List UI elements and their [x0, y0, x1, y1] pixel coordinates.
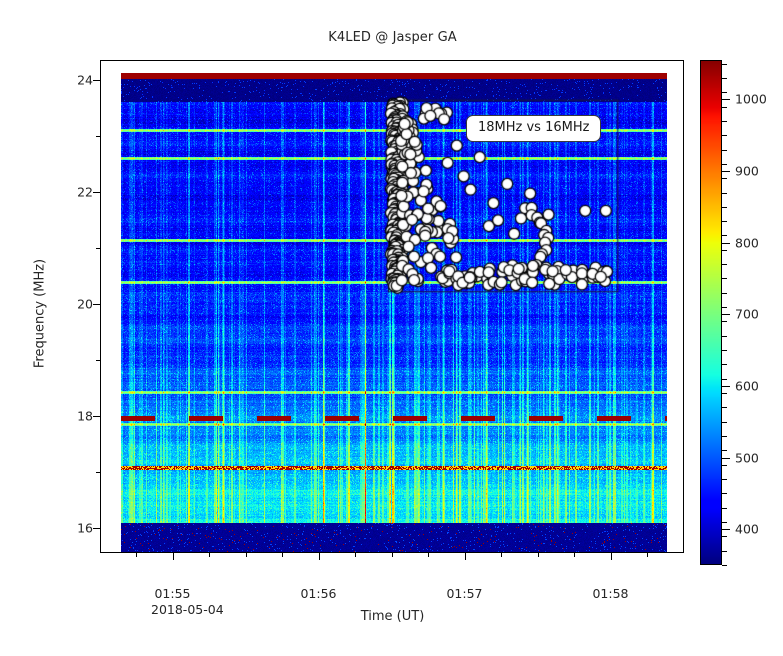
colorbar-tick-minor	[722, 450, 727, 451]
x-tick-minor	[246, 553, 247, 557]
x-tick-label: 01:56	[274, 586, 364, 601]
x-tick-minor	[136, 553, 137, 557]
colorbar-tick-label: 800	[735, 235, 759, 250]
x-tick-major	[611, 553, 612, 560]
x-tick-minor	[282, 553, 283, 557]
colorbar-tick-minor	[722, 121, 727, 122]
x-tick-minor	[392, 553, 393, 557]
colorbar-tick-minor	[722, 393, 727, 394]
colorbar-tick-minor	[722, 278, 727, 279]
y-tick-major	[93, 304, 100, 305]
x-tick-label: 01:58	[566, 586, 656, 601]
colorbar-tick-minor	[722, 250, 727, 251]
y-tick-minor	[96, 472, 100, 473]
colorbar-tick-label: 400	[735, 522, 759, 537]
y-tick-label: 18	[33, 408, 93, 423]
x-tick-minor	[574, 553, 575, 557]
annotation-legend-box: 18MHz vs 16MHz	[466, 115, 601, 142]
y-tick-minor	[96, 360, 100, 361]
colorbar-tick-label: 500	[735, 450, 759, 465]
y-tick-major	[93, 80, 100, 81]
x-tick-minor	[428, 553, 429, 557]
colorbar-tick-minor	[722, 64, 727, 65]
colorbar-tick-label: 900	[735, 164, 759, 179]
colorbar-tick-label: 700	[735, 307, 759, 322]
colorbar-tick-minor	[722, 207, 727, 208]
x-tick-label: 01:57	[420, 586, 510, 601]
colorbar-tick-major	[722, 386, 730, 387]
x-tick-minor	[501, 553, 502, 557]
colorbar-tick-minor	[722, 379, 727, 380]
colorbar-tick-minor	[722, 508, 727, 509]
y-tick-label: 22	[33, 184, 93, 199]
y-tick-major	[93, 528, 100, 529]
colorbar-tick-minor	[722, 336, 727, 337]
colorbar-tick-major	[722, 458, 730, 459]
colorbar-tick-minor	[722, 264, 727, 265]
colorbar-tick-minor	[722, 150, 727, 151]
colorbar-tick-minor	[722, 493, 727, 494]
colorbar-tick-major	[722, 99, 730, 100]
colorbar-tick-label: 600	[735, 378, 759, 393]
annotation-label: 18MHz vs 16MHz	[478, 120, 589, 135]
colorbar-tick-minor	[722, 536, 727, 537]
x-tick-major	[319, 553, 320, 560]
colorbar-tick-minor	[722, 522, 727, 523]
colorbar-tick-label: 1000	[735, 92, 767, 107]
colorbar-gradient	[701, 61, 721, 564]
y-tick-label: 20	[33, 296, 93, 311]
colorbar-tick-minor	[722, 235, 727, 236]
x-axis-label: Time (UT)	[300, 609, 485, 624]
figure-canvas: K4LED @ Jasper GA 18MHz vs 16MHz Frequen…	[0, 0, 783, 656]
x-tick-minor	[209, 553, 210, 557]
x-tick-minor	[647, 553, 648, 557]
x-tick-major	[173, 553, 174, 560]
colorbar-tick-minor	[722, 307, 727, 308]
y-tick-minor	[96, 248, 100, 249]
colorbar-tick-minor	[722, 350, 727, 351]
colorbar-tick-minor	[722, 465, 727, 466]
y-tick-major	[93, 416, 100, 417]
colorbar-tick-minor	[722, 92, 727, 93]
colorbar[interactable]	[700, 60, 722, 565]
y-tick-minor	[96, 136, 100, 137]
colorbar-tick-minor	[722, 364, 727, 365]
colorbar-tick-minor	[722, 479, 727, 480]
y-tick-major	[93, 192, 100, 193]
colorbar-tick-minor	[722, 551, 727, 552]
colorbar-tick-minor	[722, 436, 727, 437]
colorbar-tick-minor	[722, 193, 727, 194]
colorbar-tick-minor	[722, 178, 727, 179]
colorbar-tick-minor	[722, 164, 727, 165]
colorbar-tick-major	[722, 243, 730, 244]
y-tick-label: 16	[33, 520, 93, 535]
colorbar-tick-major	[722, 171, 730, 172]
x-tick-major	[465, 553, 466, 560]
colorbar-tick-minor	[722, 565, 727, 566]
colorbar-tick-minor	[722, 293, 727, 294]
x-tick-label: 01:55	[128, 586, 218, 601]
page-title: K4LED @ Jasper GA	[100, 30, 685, 45]
colorbar-tick-minor	[722, 422, 727, 423]
colorbar-tick-major	[722, 314, 730, 315]
colorbar-tick-minor	[722, 221, 727, 222]
x-axis-date-label: 2018-05-04	[151, 602, 224, 617]
colorbar-tick-minor	[722, 78, 727, 79]
colorbar-tick-minor	[722, 407, 727, 408]
colorbar-tick-minor	[722, 107, 727, 108]
y-tick-label: 24	[33, 72, 93, 87]
colorbar-tick-major	[722, 529, 730, 530]
x-tick-minor	[355, 553, 356, 557]
colorbar-tick-minor	[722, 321, 727, 322]
colorbar-tick-minor	[722, 135, 727, 136]
x-tick-minor	[538, 553, 539, 557]
